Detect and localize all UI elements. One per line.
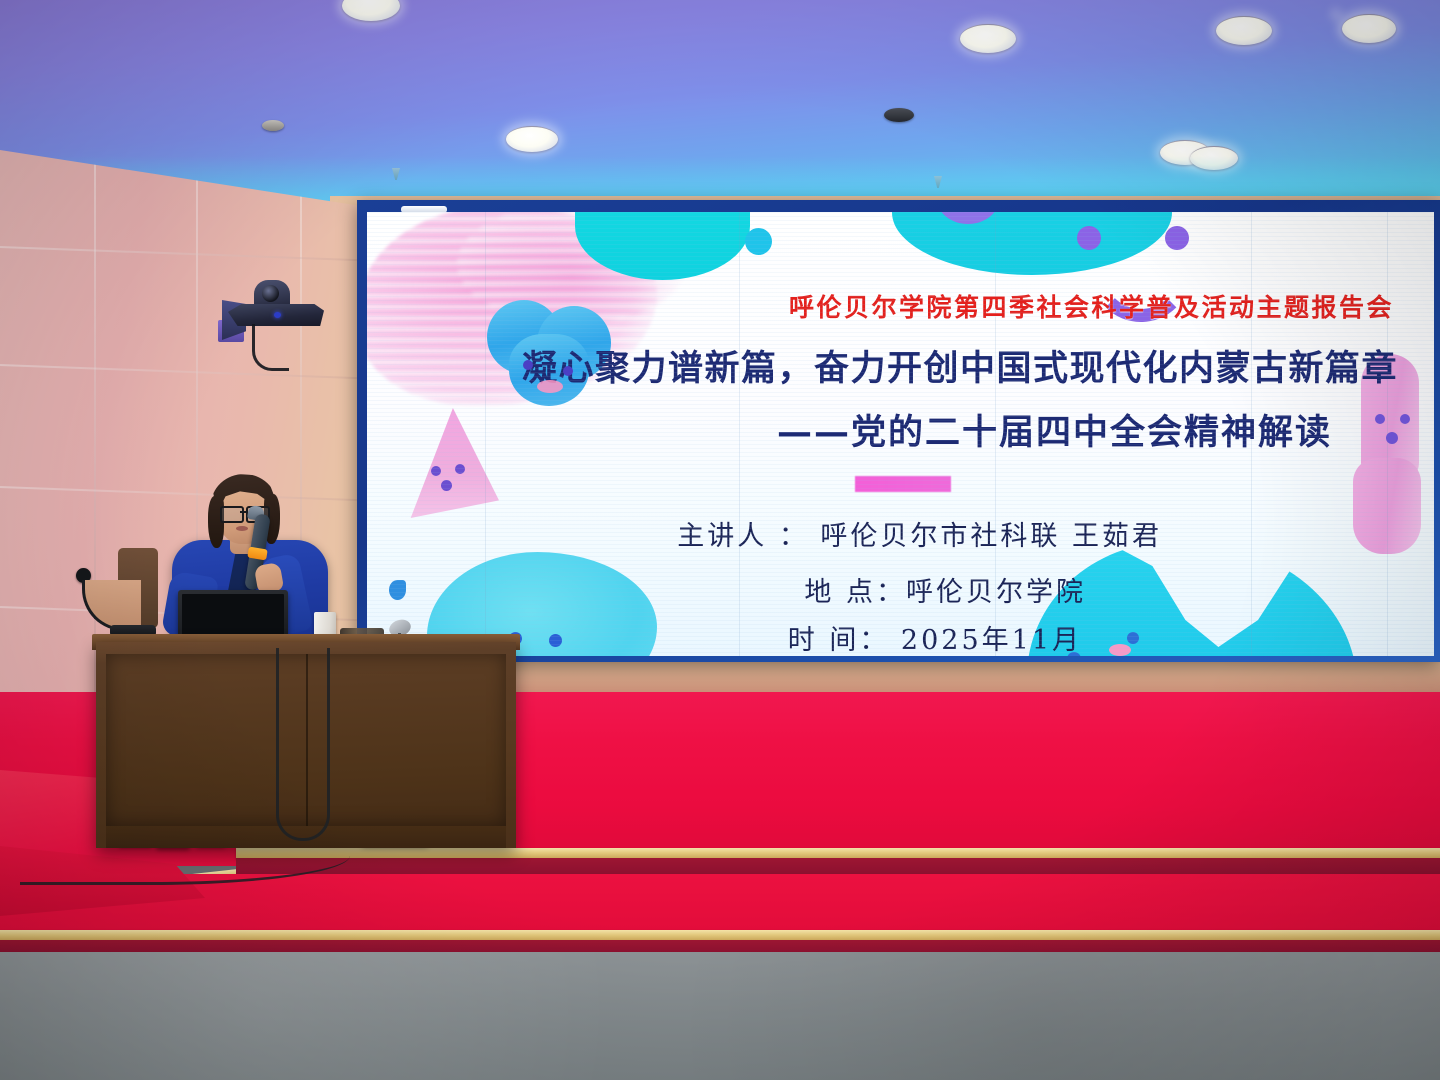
- slide-place-line: 地 点：呼伦贝尔学院: [804, 570, 1086, 609]
- ceiling-light: [1342, 14, 1396, 43]
- slide-banner-line: 呼伦贝尔学院第四季社会科学普及活动主题报告会: [367, 288, 1394, 324]
- ceiling-light: [506, 126, 558, 152]
- slide-time-line: 时 间： 2025年11月: [788, 618, 1082, 656]
- slide-speaker-line: 主讲人 ： 呼伦贝尔市社科联 王茹君: [677, 514, 1162, 553]
- ceiling-light: [960, 24, 1016, 53]
- ceiling-light: [342, 0, 400, 21]
- led-video-wall: 呼伦贝尔学院第四季社会科学普及活动主题报告会 凝心聚力谱新篇，奋力开创中国式现代…: [357, 200, 1440, 662]
- ceiling-light: [1190, 146, 1238, 170]
- presenter-mouth: [236, 526, 248, 531]
- floor: [0, 952, 1440, 1080]
- sprinkler-icon: [934, 176, 942, 188]
- ptz-camera-icon: [222, 276, 332, 358]
- slide-title-main: 凝心聚力谱新篇，奋力开创中国式现代化内蒙古新篇章: [367, 340, 1398, 391]
- smoke-detector-icon: [262, 120, 284, 131]
- sprinkler-icon: [392, 168, 400, 180]
- lecture-hall-photo: 呼伦贝尔学院第四季社会科学普及活动主题报告会 凝心聚力谱新篇，奋力开创中国式现代…: [0, 0, 1440, 1080]
- slide-title-sub: ——党的二十届四中全会精神解读: [367, 404, 1332, 455]
- smoke-detector-icon: [884, 108, 914, 122]
- hanging-cable: [276, 648, 330, 841]
- slide-content: 呼伦贝尔学院第四季社会科学普及活动主题报告会 凝心聚力谱新篇，奋力开创中国式现代…: [367, 212, 1434, 656]
- ceiling-light: [1216, 16, 1272, 45]
